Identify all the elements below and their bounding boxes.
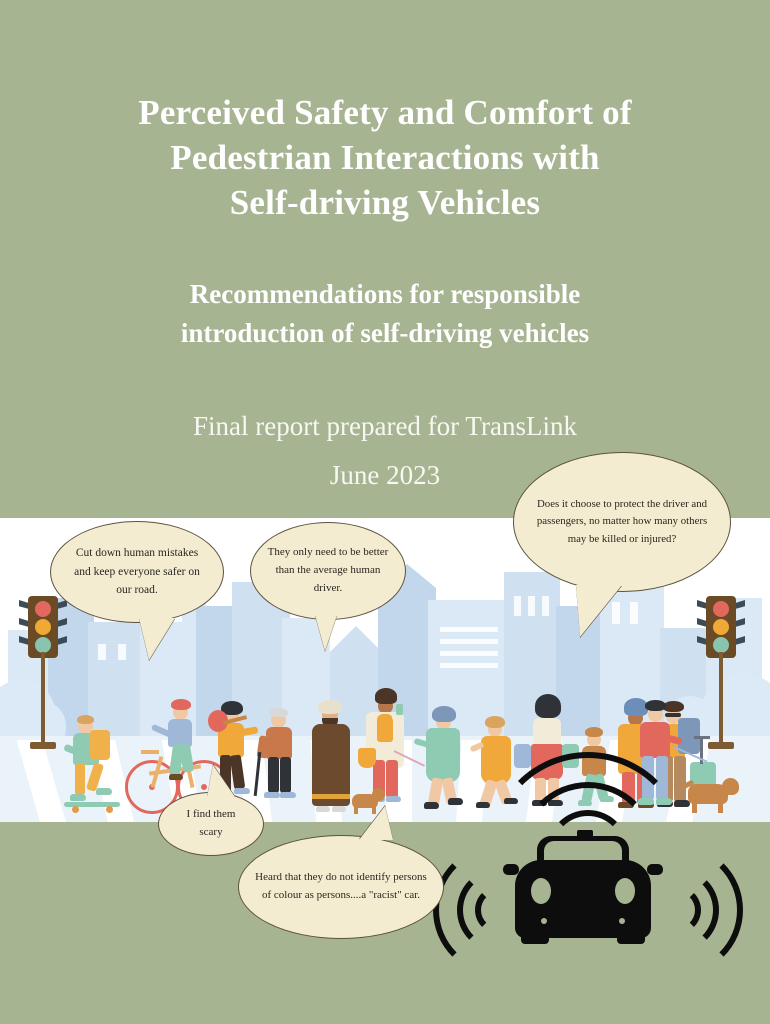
speech-bubble-1-text: Cut down human mistakes and keep everyon… <box>51 544 223 600</box>
torso <box>266 727 292 759</box>
hair <box>585 727 603 737</box>
dog-leg <box>692 802 697 813</box>
speech-bubble-tail <box>359 806 393 840</box>
shoe <box>169 774 183 780</box>
shopping-bag <box>514 744 531 768</box>
pedestrian-skateboarder <box>66 706 122 816</box>
skateboard-wheel <box>106 806 113 813</box>
window-icon <box>542 596 549 616</box>
speech-bubble-2-text: They only need to be better than the ave… <box>251 544 405 597</box>
speech-bubble-4-text: I find them scary <box>159 806 263 842</box>
dog-head <box>722 778 739 795</box>
shoe <box>234 788 250 794</box>
fog-light <box>619 918 625 924</box>
car-wheel <box>521 934 549 944</box>
hair <box>645 700 666 711</box>
leg <box>280 757 291 793</box>
side-mirror <box>647 864 663 875</box>
hair <box>171 699 191 710</box>
building-roof-icon <box>330 626 382 652</box>
speech-bubble-tail <box>139 618 175 660</box>
shoe <box>386 796 401 802</box>
window-icon <box>118 644 126 660</box>
window-stripe-icon <box>440 663 498 668</box>
speech-bubble-4: I find them scary <box>158 792 264 856</box>
speech-bubble-3: Does it choose to protect the driver and… <box>513 452 731 592</box>
pedestrian-elderly-with-cane <box>258 702 302 806</box>
shoe <box>448 798 463 805</box>
hair <box>432 706 456 722</box>
skateboard-wheel <box>72 806 79 813</box>
dog-head <box>372 788 385 801</box>
bicycle-handlebar <box>141 750 159 754</box>
headwear <box>318 700 342 714</box>
shoe <box>264 792 280 798</box>
title-line-1: Perceived Safety and Comfort of <box>0 90 770 135</box>
shoe <box>280 792 296 798</box>
speech-bubble-tail <box>315 615 337 651</box>
shoe <box>476 802 490 808</box>
window-icon <box>630 602 638 624</box>
hair <box>375 688 397 704</box>
pedestrian-with-small-dog <box>418 698 472 816</box>
shoe <box>316 806 330 812</box>
leg <box>268 757 279 793</box>
torso <box>533 718 561 746</box>
window-stripe-icon <box>440 627 498 632</box>
subtitle-line-1: Recommendations for responsible <box>0 275 770 314</box>
headlight <box>615 878 635 904</box>
shoe <box>424 802 439 809</box>
title-line-3: Self-driving Vehicles <box>0 180 770 225</box>
window-icon <box>98 644 106 660</box>
speech-bubble-3-text: Does it choose to protect the driver and… <box>514 496 730 548</box>
speech-bubble-tail <box>576 585 622 637</box>
side-mirror <box>503 864 519 875</box>
headlight <box>531 878 551 904</box>
phone-icon <box>396 704 403 715</box>
speech-bubble-1: Cut down human mistakes and keep everyon… <box>50 521 224 623</box>
car-wheel <box>617 934 645 944</box>
hair <box>269 708 288 717</box>
suitcase-handle-icon <box>694 736 710 739</box>
dog-leg <box>718 802 723 813</box>
window-stripe-icon <box>440 651 498 656</box>
dress <box>426 728 460 782</box>
speech-bubble-5: Heard that they do not identify persons … <box>238 835 444 939</box>
torso <box>377 714 393 742</box>
window-icon <box>528 596 535 616</box>
dog-leg <box>354 806 358 814</box>
shoe <box>96 788 112 795</box>
dress <box>481 736 511 784</box>
shoe <box>332 806 346 812</box>
shoe <box>70 794 86 801</box>
large-dog-icon <box>684 776 744 814</box>
window-stripe-icon <box>440 639 498 644</box>
radar-wave-icon <box>653 886 701 934</box>
autonomous-car <box>497 830 667 950</box>
report-cover: Perceived Safety and Comfort of Pedestri… <box>0 0 770 1024</box>
fog-light <box>541 918 547 924</box>
handbag <box>358 748 376 768</box>
speech-bubble-tail <box>207 765 235 797</box>
speech-bubble-2: They only need to be better than the ave… <box>250 522 406 620</box>
page-subtitle: Recommendations for responsible introduc… <box>0 275 770 353</box>
traffic-light-icon <box>28 596 58 756</box>
leg <box>75 763 85 795</box>
robe-trim <box>312 794 350 799</box>
hair <box>535 694 561 718</box>
page-title: Perceived Safety and Comfort of Pedestri… <box>0 90 770 225</box>
subtitle-line-2: introduction of self-driving vehicles <box>0 314 770 353</box>
hair <box>485 716 505 728</box>
hair <box>77 715 94 724</box>
byline-client: Final report prepared for TransLink <box>0 402 770 451</box>
leg <box>386 760 398 798</box>
window-icon <box>514 596 521 616</box>
speech-bubble-5-text: Heard that they do not identify persons … <box>239 869 443 905</box>
backpack <box>90 730 110 760</box>
title-line-2: Pedestrian Interactions with <box>0 135 770 180</box>
